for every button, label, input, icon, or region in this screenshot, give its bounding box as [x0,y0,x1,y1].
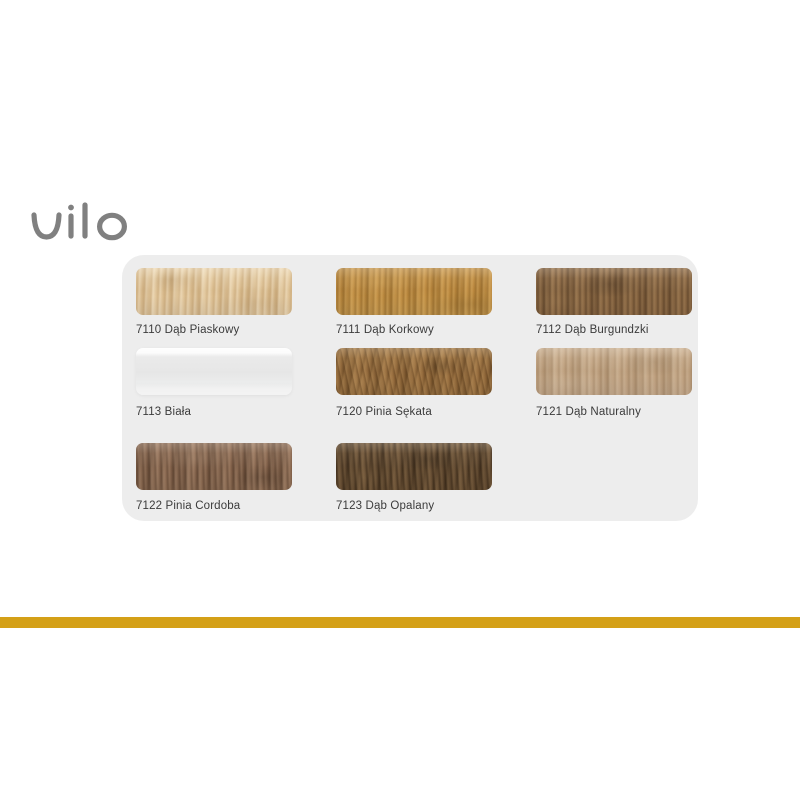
swatch-grid: 7110 Dąb Piaskowy 7111 Dąb Korkowy 7112 … [122,255,698,521]
swatch-item-7110[interactable]: 7110 Dąb Piaskowy [136,268,292,337]
wood-swatch-icon[interactable] [136,268,292,315]
swatch-label: 7111 Dąb Korkowy [336,323,492,337]
swatch-item-7113[interactable]: 7113 Biała [136,348,292,419]
wood-swatch-icon[interactable] [336,443,492,490]
swatch-item-7120[interactable]: 7120 Pinia Sękata [336,348,492,419]
logo-o-icon [100,215,125,237]
swatch-item-7111[interactable]: 7111 Dąb Korkowy [336,268,492,337]
gold-divider-bar [0,617,800,628]
swatch-item-7123[interactable]: 7123 Dąb Opalany [336,443,492,513]
vilo-logo [28,197,138,249]
swatch-item-7121[interactable]: 7121 Dąb Naturalny [536,348,692,419]
wood-swatch-icon[interactable] [136,348,292,395]
swatch-label: 7113 Biała [136,405,292,419]
swatch-item-7112[interactable]: 7112 Dąb Burgundzki [536,268,692,337]
swatch-label: 7123 Dąb Opalany [336,499,492,513]
wood-swatch-icon[interactable] [536,348,692,395]
swatch-label: 7110 Dąb Piaskowy [136,323,292,337]
wood-swatch-icon[interactable] [536,268,692,315]
wood-swatch-icon[interactable] [336,348,492,395]
swatch-label: 7112 Dąb Burgundzki [536,323,692,337]
swatch-item-7122[interactable]: 7122 Pinia Cordoba [136,443,292,513]
swatch-label: 7122 Pinia Cordoba [136,499,292,513]
swatch-label: 7121 Dąb Naturalny [536,405,692,419]
wood-swatch-icon[interactable] [136,443,292,490]
logo-dot-icon [68,205,74,211]
vilo-wordmark-icon [28,197,138,249]
swatch-label: 7120 Pinia Sękata [336,405,492,419]
decor-swatch-card: 7110 Dąb Piaskowy 7111 Dąb Korkowy 7112 … [122,255,698,521]
wood-swatch-icon[interactable] [336,268,492,315]
